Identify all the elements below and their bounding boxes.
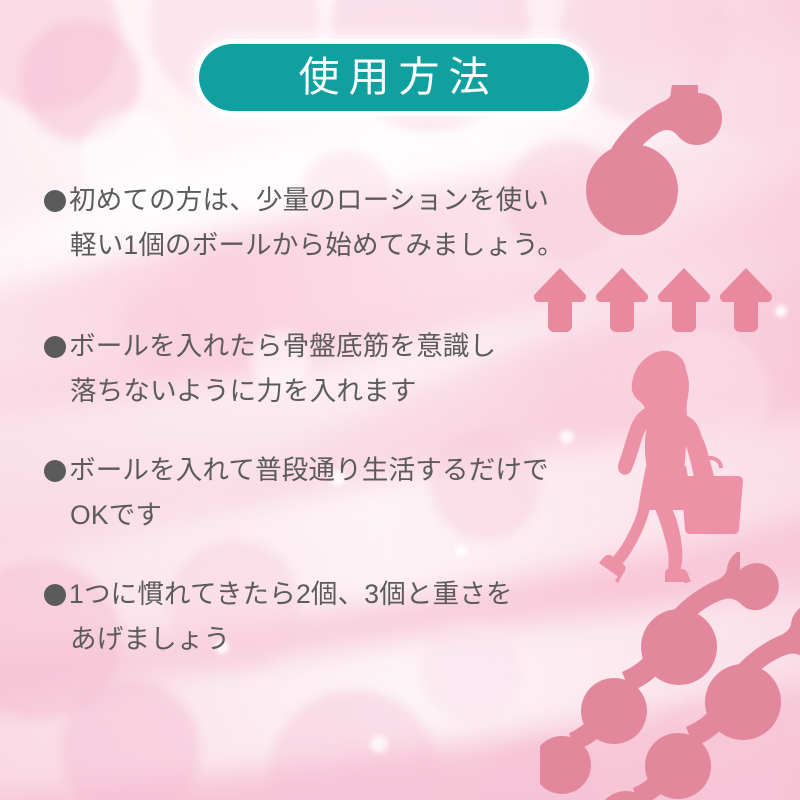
page-title: 使用方法	[290, 57, 499, 98]
instruction-item: 1つに慣れてきたら2個、3個と重さを あげましょう	[44, 572, 564, 662]
instruction-line: ボールを入れたら骨盤底筋を意識し	[44, 324, 564, 369]
instruction-text: ボールを入れたら骨盤底筋を意識し	[69, 331, 496, 361]
bullet-dot-icon	[44, 190, 66, 212]
instruction-list: 初めての方は、少量のローションを使い 軽い1個のボールから始めてみましょう。 ボ…	[44, 178, 564, 662]
instruction-line: 落ちないように力を入れます	[44, 369, 564, 414]
bullet-dot-icon	[44, 336, 66, 358]
instruction-line: ボールを入れて普段通り生活するだけで	[44, 448, 564, 493]
instruction-line: あげましょう	[44, 617, 564, 662]
bullet-dot-icon	[44, 584, 66, 606]
instruction-item: ボールを入れたら骨盤底筋を意識し 落ちないように力を入れます	[44, 324, 564, 414]
title-badge: 使用方法	[199, 44, 589, 111]
bokeh-dot	[775, 305, 787, 317]
instruction-text: ボールを入れて普段通り生活するだけで	[69, 455, 549, 485]
instruction-text: 1つに慣れてきたら2個、3個と重さを	[69, 579, 513, 609]
instruction-line: OKです	[44, 493, 564, 538]
bullet-dot-icon	[44, 460, 66, 482]
instruction-line: 初めての方は、少量のローションを使い	[44, 178, 564, 223]
bokeh-circle	[640, 330, 770, 460]
instruction-line: 1つに慣れてきたら2個、3個と重さを	[44, 572, 564, 617]
instruction-text: 初めての方は、少量のローションを使い	[69, 185, 549, 215]
instruction-line: 軽い1個のボールから始めてみましょう。	[44, 223, 564, 268]
bokeh-dot	[370, 735, 388, 753]
instruction-item: ボールを入れて普段通り生活するだけで OKです	[44, 448, 564, 538]
poster-canvas: 使用方法 初めての方は、少量のローションを使い 軽い1個のボールから始めてみまし…	[0, 0, 800, 800]
instruction-item: 初めての方は、少量のローションを使い 軽い1個のボールから始めてみましょう。	[44, 178, 564, 268]
